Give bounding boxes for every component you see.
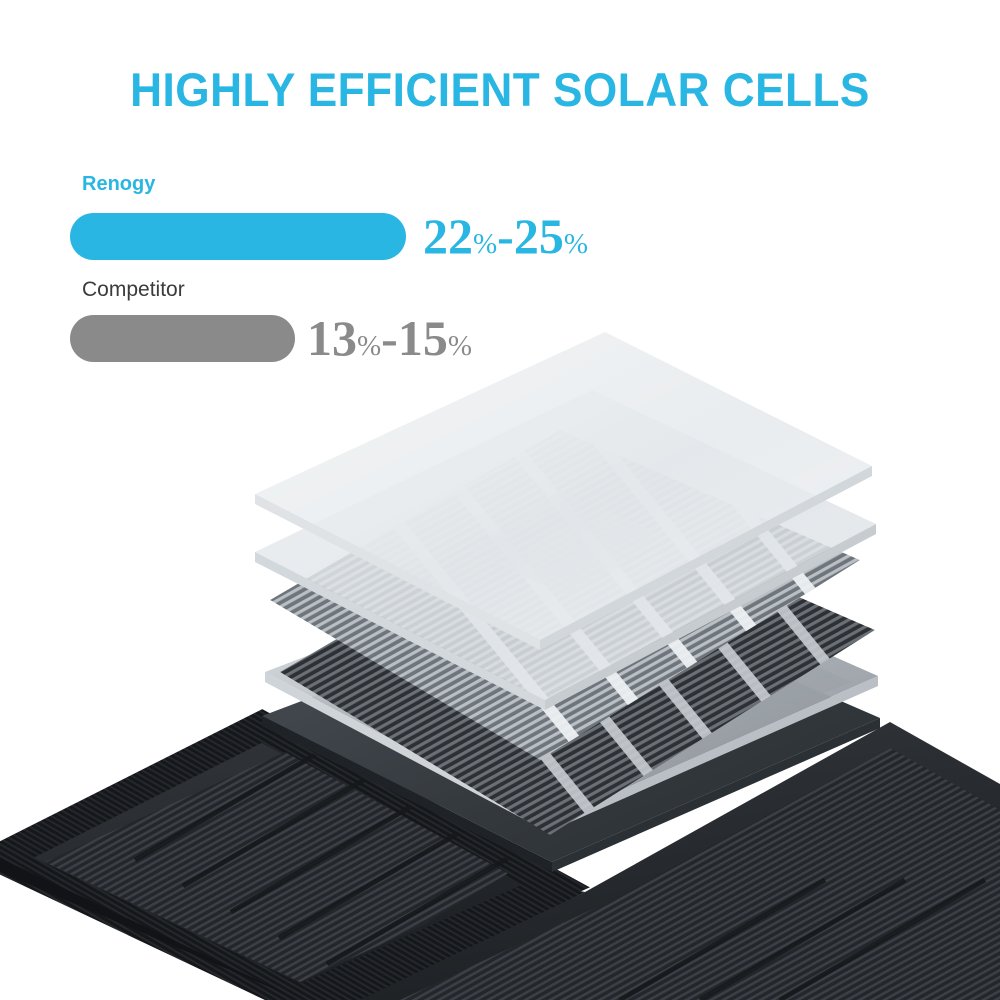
competitor-series-label: Competitor [82, 278, 185, 302]
competitor-value-low: 13 [307, 310, 357, 366]
brand-efficiency-bar [70, 213, 406, 260]
competitor-value-high: 15 [398, 310, 448, 366]
brand-value-high: 25 [514, 208, 564, 264]
brand-percent-sign-high: % [564, 228, 588, 260]
brand-range-dash: - [497, 208, 514, 264]
efficiency-comparison-chart: Renogy 22%-25% Competitor 13%-15% [0, 0, 1000, 400]
brand-efficiency-value: 22%-25% [423, 211, 588, 261]
competitor-efficiency-value: 13%-15% [307, 313, 472, 363]
product-infographic: HIGHLY EFFICIENT SOLAR CELLS Renogy 22%-… [0, 0, 1000, 1000]
competitor-percent-sign-low: % [357, 330, 381, 362]
brand-percent-sign-low: % [473, 228, 497, 260]
competitor-efficiency-bar [70, 315, 295, 362]
competitor-percent-sign-high: % [448, 330, 472, 362]
competitor-range-dash: - [381, 310, 398, 366]
brand-series-label: Renogy [82, 173, 155, 196]
brand-value-low: 22 [423, 208, 473, 264]
